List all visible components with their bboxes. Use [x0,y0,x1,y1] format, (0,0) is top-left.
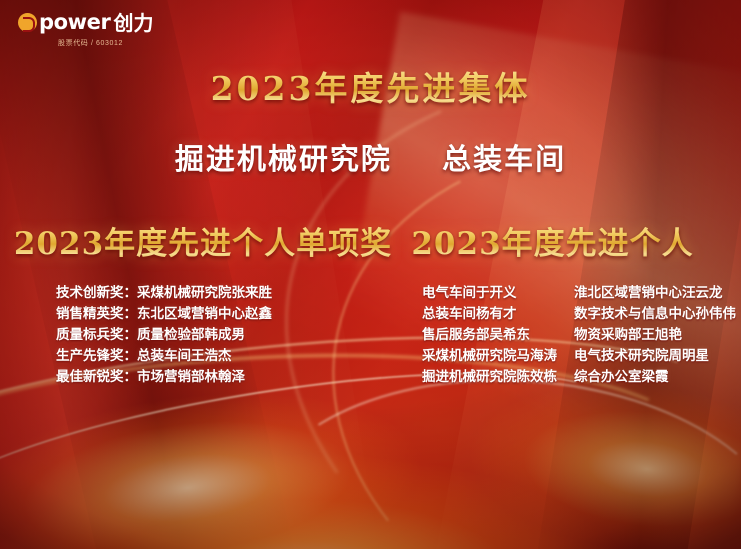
list-item: 总装车间杨有才 数字技术与信息中心孙伟伟 [422,304,741,325]
winner-name: 淮北区域营销中心汪云龙 [574,283,723,304]
winner-name: 总装车间杨有才 [422,304,574,325]
winner-name: 电气技术研究院周明星 [574,346,709,367]
award-banner-poster: power 创力 股票代码 / 603012 2023年度先进集体 掘进机械研究… [0,0,741,549]
list-item: 质量标兵奖：质量检验部韩成男 [56,325,416,346]
winner-name: 数字技术与信息中心孙伟伟 [574,304,736,325]
company-logo: power 创力 股票代码 / 603012 [18,12,153,48]
winner-name: 物资采购部王旭艳 [574,325,682,346]
heading-advanced-individuals: 2023年度先进个人 [398,218,741,263]
list-item: 销售精英奖：东北区域营销中心赵鑫 [56,304,416,325]
winner-name: 综合办公室梁霞 [574,367,669,388]
list-item: 采煤机械研究院马海涛 电气技术研究院周明星 [422,346,741,367]
list-item: 技术创新奖：采煤机械研究院张来胜 [56,283,416,304]
list-item: 最佳新锐奖：市场营销部林翰泽 [56,367,416,388]
winner-name: 采煤机械研究院马海涛 [422,346,574,367]
c-power-circle-icon [18,13,37,32]
list-item: 掘进机械研究院陈效栋 综合办公室梁霞 [422,367,741,388]
collective-winner-1: 掘进机械研究院 [175,142,392,176]
winner-name: 电气车间于开义 [422,283,574,304]
logo-text-en: power [39,12,110,33]
stock-code-label: 股票代码 / 603012 [58,38,123,48]
collective-winners-subtitle: 掘进机械研究院 总装车间 [0,136,741,178]
individual-awards-list: 技术创新奖：采煤机械研究院张来胜 销售精英奖：东北区域营销中心赵鑫 质量标兵奖：… [0,283,416,388]
list-item: 电气车间于开义 淮北区域营销中心汪云龙 [422,283,741,304]
winner-lists: 技术创新奖：采煤机械研究院张来胜 销售精英奖：东北区域营销中心赵鑫 质量标兵奖：… [0,283,741,388]
heading-individual-special-awards: 2023年度先进个人单项奖 [0,218,398,263]
list-item: 生产先锋奖：总装车间王浩杰 [56,346,416,367]
advanced-individuals-list: 电气车间于开义 淮北区域营销中心汪云龙 总装车间杨有才 数字技术与信息中心孙伟伟… [416,283,741,388]
logo-text-cn: 创力 [113,13,153,33]
winner-name: 售后服务部吴希东 [422,325,574,346]
awards-headings: 2023年度先进个人单项奖 2023年度先进个人 [0,218,741,263]
list-item: 售后服务部吴希东 物资采购部王旭艳 [422,325,741,346]
collective-winner-2: 总装车间 [442,142,566,176]
winner-name: 掘进机械研究院陈效栋 [422,367,574,388]
page-title: 2023年度先进集体 [0,62,741,110]
